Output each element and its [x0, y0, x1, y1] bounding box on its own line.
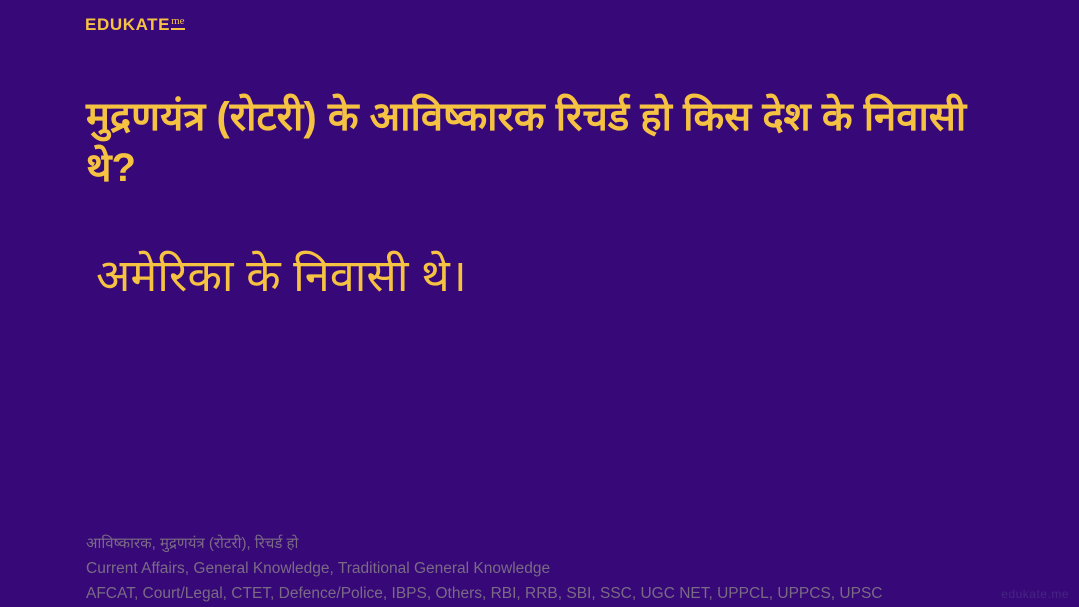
- brand-logo-word: EDUKATE: [85, 16, 170, 33]
- footer-tags-hindi: आविष्कारक, मुद्रणयंत्र (रोटरी), रिचर्ड ह…: [86, 531, 1046, 556]
- footer-categories: Current Affairs, General Knowledge, Trad…: [86, 556, 1046, 581]
- brand-logo[interactable]: EDUKATE me: [85, 16, 185, 33]
- footer-exams: AFCAT, Court/Legal, CTET, Defence/Police…: [86, 581, 1046, 606]
- footer-tags: आविष्कारक, मुद्रणयंत्र (रोटरी), रिचर्ड ह…: [86, 531, 1046, 606]
- answer-text: अमेरिका के निवासी थे।: [96, 248, 996, 304]
- question-text: मुद्रणयंत्र (रोटरी) के आविष्कारक रिचर्ड …: [86, 92, 1006, 194]
- slide-canvas: EDUKATE me मुद्रणयंत्र (रोटरी) के आविष्क…: [0, 0, 1079, 607]
- brand-logo-superscript: me: [171, 16, 184, 30]
- watermark-text: edukate.me: [1001, 587, 1069, 601]
